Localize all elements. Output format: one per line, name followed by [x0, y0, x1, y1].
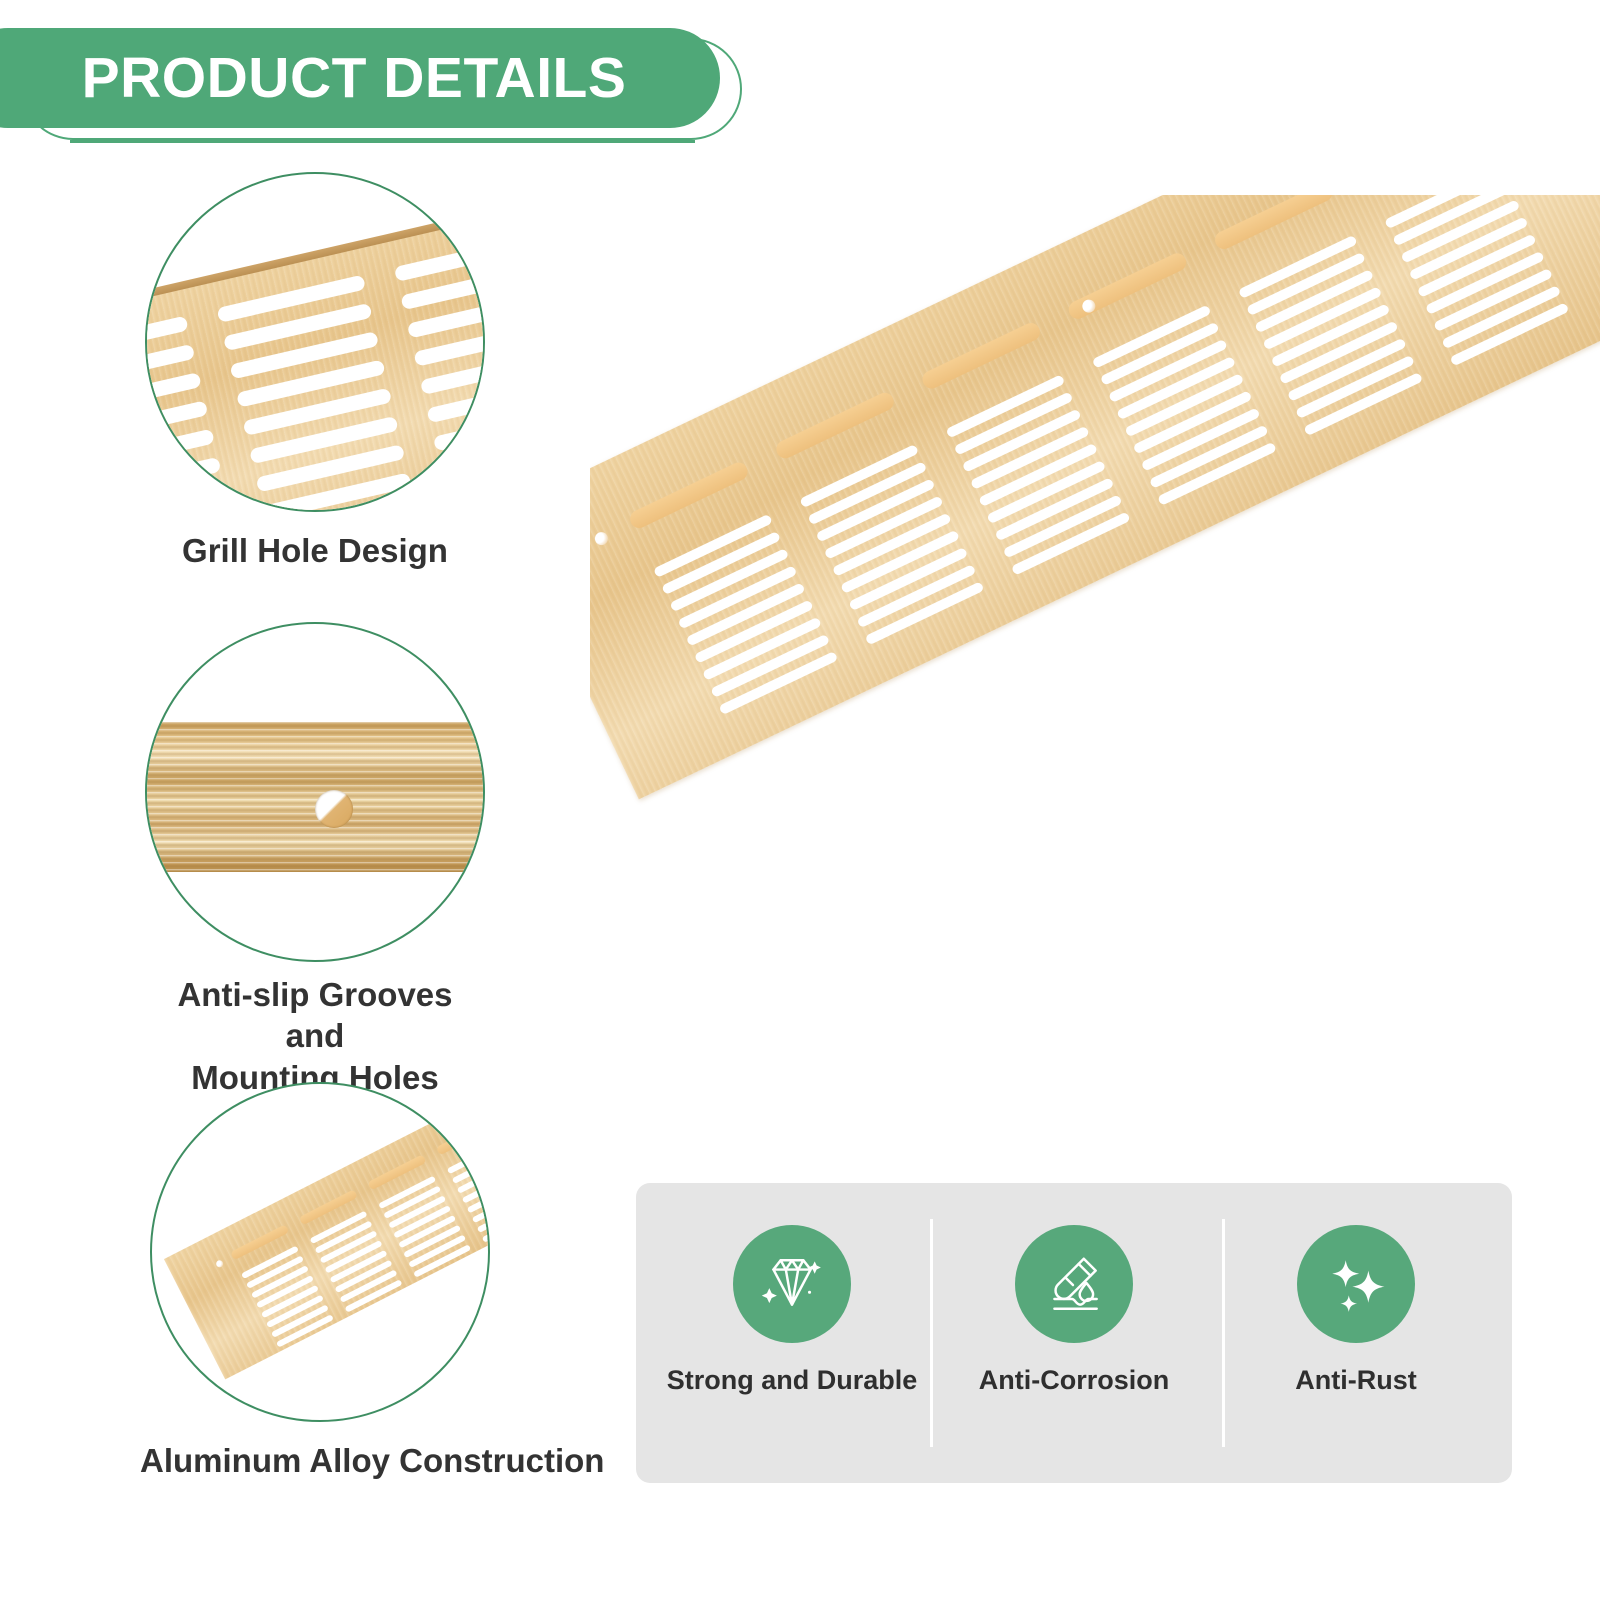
page-title: PRODUCT DETAILS	[82, 50, 627, 107]
benefit-item-anti-rust: Anti-Rust	[1210, 1225, 1502, 1396]
mounting-hole-icon	[315, 790, 353, 828]
vent-slot	[145, 485, 228, 512]
diamond-icon	[759, 1251, 825, 1317]
benefit-icon-badge	[1015, 1225, 1133, 1343]
benefit-icon-badge	[1297, 1225, 1415, 1343]
detail-caption-aluminum-alloy-construction: Aluminum Alloy Construction	[140, 1440, 500, 1481]
detail-card-aluminum-alloy-construction: Aluminum Alloy Construction	[150, 1082, 490, 1422]
header-underline	[70, 140, 695, 143]
detail-caption-line-1: Anti-slip Grooves and	[145, 974, 485, 1057]
vent-slot-long	[1212, 195, 1335, 252]
hero-product-image	[590, 195, 1600, 1100]
grill-hole-macro-illustration	[145, 172, 485, 512]
benefit-item-strong-and-durable: Strong and Durable	[646, 1225, 938, 1396]
vent-slot-long	[627, 460, 750, 531]
detail-caption-anti-slip-grooves: Anti-slip Grooves and Mounting Holes	[145, 974, 485, 1098]
test-tube-droplet-icon	[1041, 1251, 1107, 1317]
vent-slot-long	[920, 320, 1043, 391]
benefit-label: Anti-Rust	[1295, 1365, 1416, 1396]
hero-plate-rotation-wrapper	[590, 195, 1600, 799]
detail-card-anti-slip-grooves: Anti-slip Grooves and Mounting Holes	[145, 622, 485, 962]
benefit-label: Anti-Corrosion	[979, 1365, 1169, 1396]
aluminum-plate-illustration	[150, 1082, 490, 1422]
header-banner: PRODUCT DETAILS	[0, 28, 760, 148]
detail-image-anti-slip-grooves	[145, 622, 485, 962]
mounting-hole	[215, 1259, 224, 1268]
detail-card-grill-hole-design: Grill Hole Design	[145, 172, 485, 512]
benefits-panel: Strong and Durable Anti-Corrosion	[636, 1183, 1512, 1483]
vent-plate-surface	[145, 198, 485, 512]
detail-image-grill-hole-design	[145, 172, 485, 512]
vent-plate-surface	[590, 195, 1600, 799]
vent-slot-long	[773, 390, 896, 461]
sparkles-icon	[1323, 1251, 1389, 1317]
benefit-label: Strong and Durable	[667, 1365, 918, 1396]
vent-slot	[394, 234, 485, 282]
header-badge: PRODUCT DETAILS	[0, 28, 720, 128]
benefit-icon-badge	[733, 1225, 851, 1343]
anti-slip-grooves-illustration	[145, 722, 485, 872]
benefit-item-anti-corrosion: Anti-Corrosion	[928, 1225, 1220, 1396]
detail-caption-grill-hole-design: Grill Hole Design	[145, 530, 485, 571]
mounting-hole	[593, 530, 610, 547]
vent-plate-surface	[164, 1109, 490, 1379]
detail-image-aluminum-alloy-construction	[150, 1082, 490, 1422]
